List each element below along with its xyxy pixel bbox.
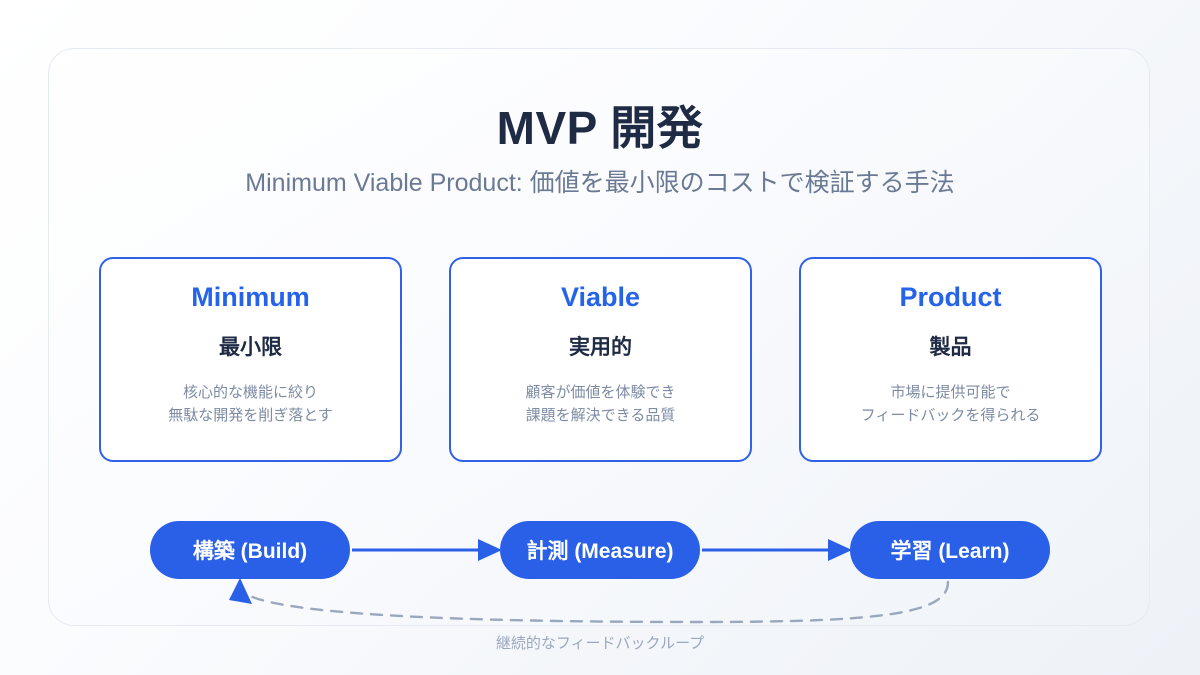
card-viable[interactable]: Viable 実用的 顧客が価値を体験でき 課題を解決できる品質	[449, 257, 752, 462]
card-description-line2: 無駄な開発を削ぎ落とす	[168, 407, 333, 424]
card-description-line1: 顧客が価値を体験でき	[525, 384, 675, 401]
feedback-loop-caption: 継続的なフィードバックループ	[0, 632, 1200, 653]
card-description: 市場に提供可能で フィードバックを得られる	[861, 381, 1041, 428]
concept-cards: Minimum 最小限 核心的な機能に絞り 無駄な開発を削ぎ落とす Viable…	[99, 257, 1102, 462]
flow-step-label: 学習 (Learn)	[890, 535, 1009, 565]
card-title-en: Viable	[561, 283, 640, 313]
card-title-en: Minimum	[191, 283, 310, 313]
card-product[interactable]: Product 製品 市場に提供可能で フィードバックを得られる	[799, 257, 1102, 462]
card-description: 顧客が価値を体験でき 課題を解決できる品質	[525, 381, 675, 428]
card-description-line2: フィードバックを得られる	[861, 407, 1041, 424]
page-title: MVP 開発	[0, 92, 1200, 158]
card-title-jp: 製品	[930, 336, 972, 359]
card-description-line2: 課題を解決できる品質	[526, 407, 676, 424]
card-description-line1: 核心的な機能に絞り	[183, 384, 318, 401]
card-description-line1: 市場に提供可能で	[890, 384, 1010, 401]
card-minimum[interactable]: Minimum 最小限 核心的な機能に絞り 無駄な開発を削ぎ落とす	[99, 257, 402, 462]
card-description: 核心的な機能に絞り 無駄な開発を削ぎ落とす	[168, 381, 333, 428]
build-measure-learn-flow: 構築 (Build) 計測 (Measure) 学習 (Learn)	[0, 521, 1200, 579]
card-title-jp: 最小限	[219, 336, 282, 359]
card-title-jp: 実用的	[569, 336, 632, 359]
card-title-en: Product	[899, 283, 1001, 313]
flow-step-label: 構築 (Build)	[193, 535, 307, 565]
flow-step-measure[interactable]: 計測 (Measure)	[500, 521, 700, 579]
flow-step-learn[interactable]: 学習 (Learn)	[850, 521, 1050, 579]
flow-step-build[interactable]: 構築 (Build)	[150, 521, 350, 579]
flow-step-label: 計測 (Measure)	[526, 535, 673, 565]
page-subtitle: Minimum Viable Product: 価値を最小限のコストで検証する手…	[0, 163, 1200, 199]
